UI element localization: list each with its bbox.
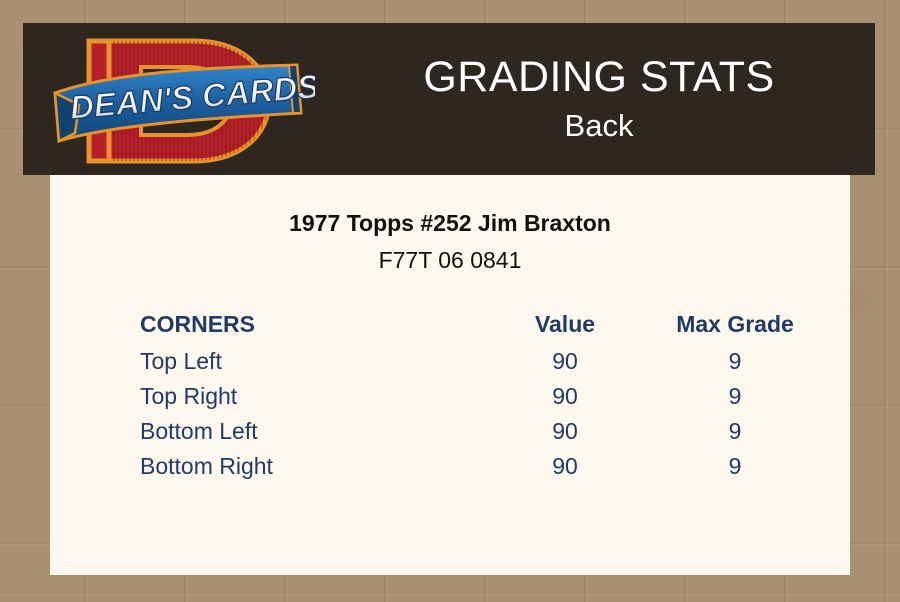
table-row: Top Left 90 9 [140,344,820,379]
grading-stats-page: DEAN'S CARDS GRADING STATS Back 1977 Top… [0,0,900,602]
table-row: Bottom Right 90 9 [140,449,820,484]
row-max-grade: 9 [650,379,820,414]
row-max-grade: 9 [650,449,820,484]
page-subtitle: Back [565,106,634,146]
table-row: Top Right 90 9 [140,379,820,414]
row-value: 90 [480,414,650,449]
table-header-row: CORNERS Value Max Grade [140,307,820,344]
row-label: Top Left [140,344,480,379]
row-label: Bottom Right [140,449,480,484]
row-value: 90 [480,344,650,379]
stats-panel: 1977 Topps #252 Jim Braxton F77T 06 0841… [50,175,850,575]
row-label: Top Right [140,379,480,414]
row-value: 90 [480,379,650,414]
column-header-category: CORNERS [140,307,480,344]
column-header-max-grade: Max Grade [650,307,820,344]
header-bar: DEAN'S CARDS GRADING STATS Back [23,23,875,175]
deans-cards-logo: DEAN'S CARDS [45,27,315,175]
row-max-grade: 9 [650,414,820,449]
card-serial-number: F77T 06 0841 [50,247,850,274]
row-label: Bottom Left [140,414,480,449]
row-value: 90 [480,449,650,484]
page-title: GRADING STATS [423,52,774,102]
column-header-value: Value [480,307,650,344]
card-description: 1977 Topps #252 Jim Braxton [50,210,850,237]
table-row: Bottom Left 90 9 [140,414,820,449]
header-title-group: GRADING STATS Back [323,23,875,175]
row-max-grade: 9 [650,344,820,379]
grading-stats-table: CORNERS Value Max Grade Top Left 90 9 To… [140,307,820,484]
